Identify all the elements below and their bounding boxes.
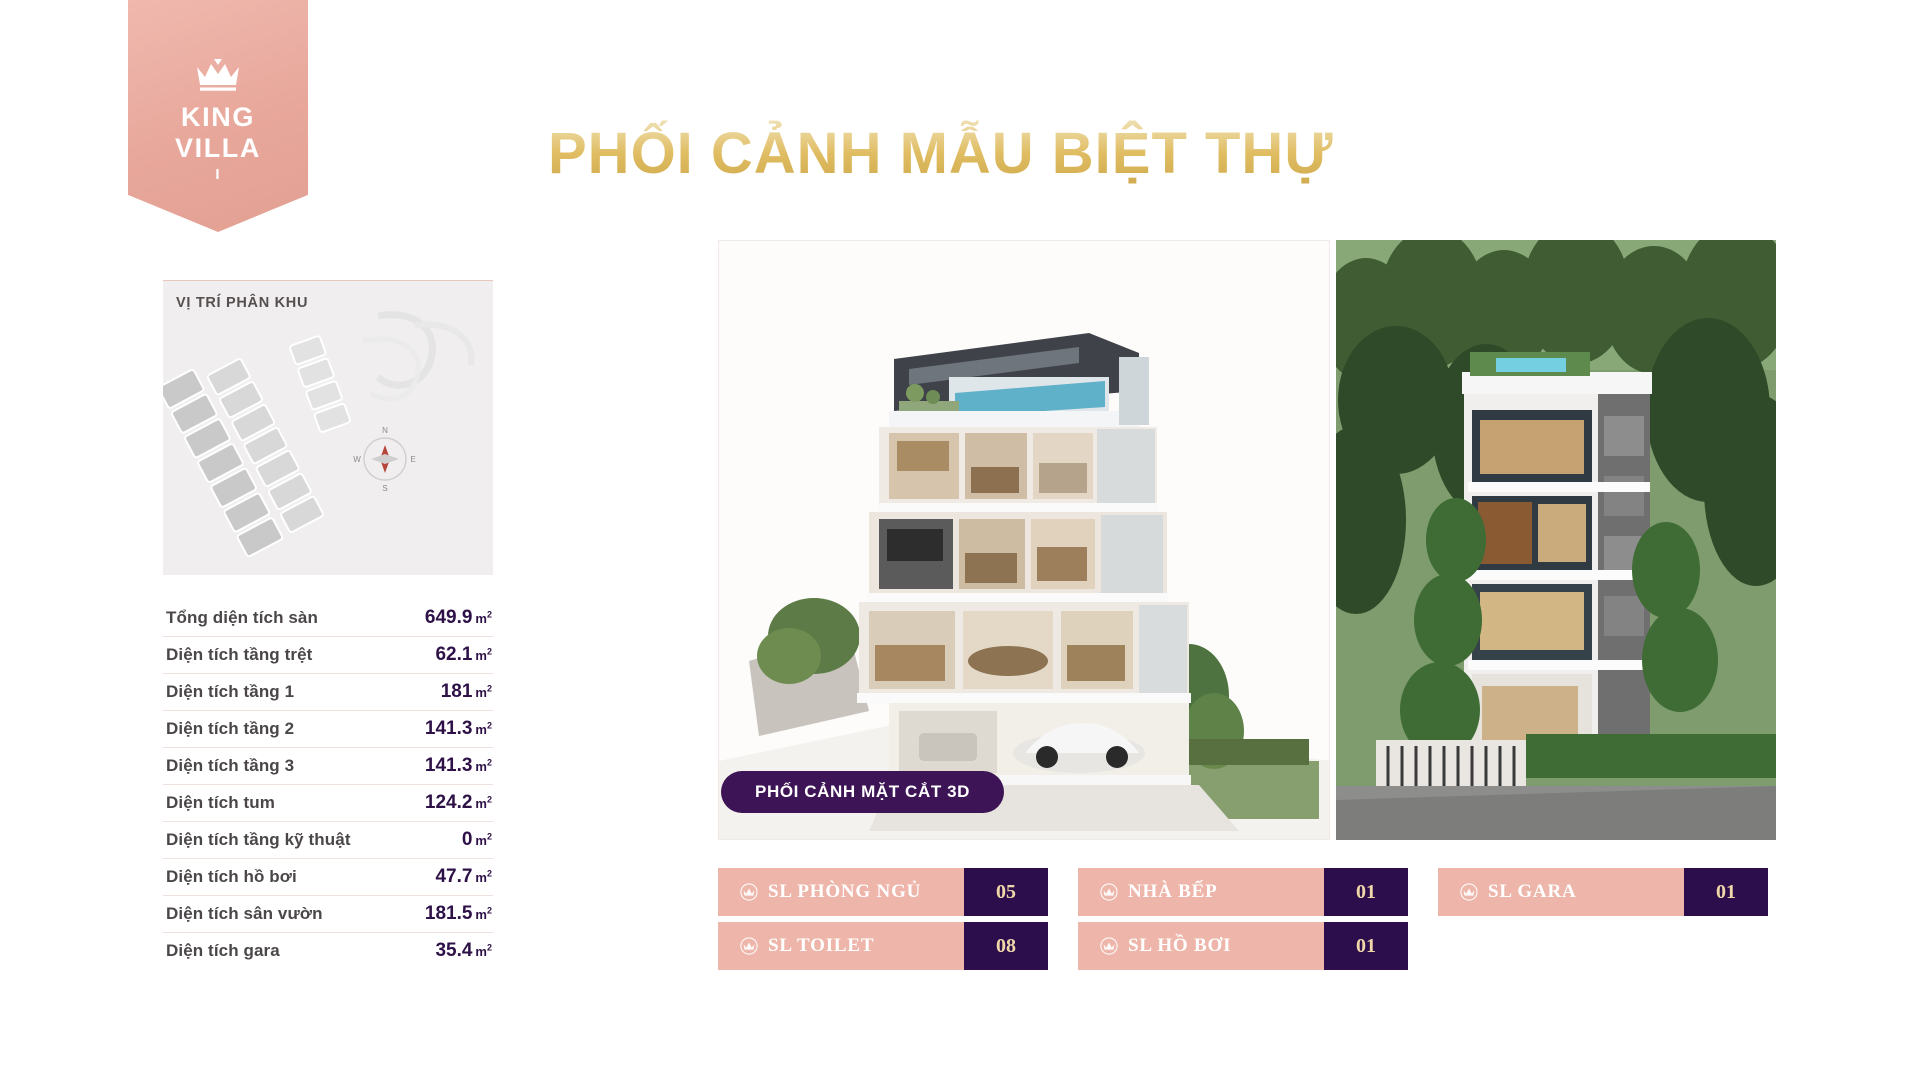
compass-rose: N E S W: [353, 426, 415, 493]
badge-label: SL GARA: [1488, 881, 1576, 903]
zone-map-graphic: N E S W: [163, 281, 493, 575]
spec-value: 181m2: [441, 681, 492, 703]
spec-unit: m2: [475, 833, 492, 848]
spec-value: 181.5m2: [425, 903, 492, 925]
table-row: Diện tích sân vườn 181.5m2: [163, 896, 493, 933]
crown-badge-icon: [1100, 883, 1118, 901]
badge-label-wrap: NHÀ BẾP: [1078, 868, 1324, 916]
brand-logo-line2: VILLA: [175, 133, 261, 164]
villa-3d-section-render[interactable]: PHỐI CẢNH MẶT CẮT 3D: [718, 240, 1330, 840]
spec-value: 62.1m2: [435, 644, 492, 666]
page-title: PHỐI CẢNH MẪU BIỆT THỰ: [548, 120, 1333, 187]
badge-label: SL PHÒNG NGỦ: [768, 881, 921, 903]
badge-label: SL HỒ BƠI: [1128, 935, 1231, 957]
spec-label: Diện tích tum: [166, 793, 275, 813]
svg-text:N: N: [382, 426, 388, 435]
badge-label: SL TOILET: [768, 935, 874, 957]
crown-badge-icon: [740, 883, 758, 901]
badge-label-wrap: SL HỒ BƠI: [1078, 922, 1324, 970]
brand-logo-line1: KING: [175, 102, 261, 133]
crown-icon: [195, 58, 241, 92]
spec-unit: m2: [475, 685, 492, 700]
svg-text:E: E: [410, 455, 415, 464]
table-row: Diện tích tầng 3 141.3m2: [163, 748, 493, 785]
spec-unit: m2: [475, 944, 492, 959]
spec-label: Diện tích sân vườn: [166, 904, 323, 924]
table-row: Diện tích tầng kỹ thuật 0m2: [163, 822, 493, 859]
table-row: Tổng diện tích sàn 649.9m2: [163, 600, 493, 637]
badge-value: 01: [1324, 868, 1408, 916]
badge-value: 08: [964, 922, 1048, 970]
zone-location-map[interactable]: VỊ TRÍ PHÂN KHU: [163, 280, 493, 575]
spec-label: Diện tích gara: [166, 941, 280, 961]
villa-exterior-render[interactable]: [1336, 240, 1776, 840]
spec-unit: m2: [475, 611, 492, 626]
brand-logo-text: KING VILLA: [175, 102, 261, 164]
spec-value: 141.3m2: [425, 718, 492, 740]
table-row: Diện tích hồ bơi 47.7m2: [163, 859, 493, 896]
spec-unit: m2: [475, 796, 492, 811]
badge-label: NHÀ BẾP: [1128, 881, 1218, 903]
spec-unit: m2: [475, 759, 492, 774]
badge-label-wrap: SL GARA: [1438, 868, 1684, 916]
spec-value: 35.4m2: [435, 940, 492, 962]
slide-page: KING VILLA I PHỐI CẢNH MẪU BIỆT THỰ VỊ T…: [0, 0, 1920, 1080]
badge-toilets[interactable]: SL TOILET 08: [718, 922, 1048, 970]
table-row: Diện tích gara 35.4m2: [163, 933, 493, 969]
spec-label: Diện tích tầng kỹ thuật: [166, 830, 351, 850]
brand-logo-sub: I: [215, 166, 220, 183]
spec-unit: m2: [475, 722, 492, 737]
spec-label: Diện tích tầng 2: [166, 719, 294, 739]
specs-table: Tổng diện tích sàn 649.9m2 Diện tích tần…: [163, 600, 493, 969]
svg-text:W: W: [353, 455, 361, 464]
spec-label: Diện tích hồ bơi: [166, 867, 297, 887]
table-row: Diện tích tum 124.2m2: [163, 785, 493, 822]
badge-bedrooms[interactable]: SL PHÒNG NGỦ 05: [718, 868, 1048, 916]
crown-badge-icon: [1460, 883, 1478, 901]
spec-value: 0m2: [462, 829, 492, 851]
spec-label: Diện tích tầng 3: [166, 756, 294, 776]
spec-value: 47.7m2: [435, 866, 492, 888]
badge-value: 05: [964, 868, 1048, 916]
crown-badge-icon: [740, 937, 758, 955]
svg-text:S: S: [382, 484, 387, 493]
table-row: Diện tích tầng 2 141.3m2: [163, 711, 493, 748]
render-caption: PHỐI CẢNH MẶT CẮT 3D: [721, 771, 1004, 813]
spec-value: 124.2m2: [425, 792, 492, 814]
spec-unit: m2: [475, 907, 492, 922]
spec-value: 141.3m2: [425, 755, 492, 777]
badge-value: 01: [1324, 922, 1408, 970]
villa-section-graphic: [719, 241, 1330, 840]
badge-value: 01: [1684, 868, 1768, 916]
spec-unit: m2: [475, 648, 492, 663]
table-row: Diện tích tầng 1 181m2: [163, 674, 493, 711]
badge-label-wrap: SL TOILET: [718, 922, 964, 970]
crown-badge-icon: [1100, 937, 1118, 955]
left-column: VỊ TRÍ PHÂN KHU: [163, 280, 493, 969]
spec-label: Diện tích tầng trệt: [166, 645, 312, 665]
badge-pool[interactable]: SL HỒ BƠI 01: [1078, 922, 1408, 970]
feature-badge-grid: SL PHÒNG NGỦ 05 NHÀ BẾP 01 SL GARA: [718, 868, 1768, 970]
villa-exterior-graphic: [1336, 240, 1776, 840]
spec-label: Tổng diện tích sàn: [166, 608, 318, 628]
spec-label: Diện tích tầng 1: [166, 682, 294, 702]
badge-garage[interactable]: SL GARA 01: [1438, 868, 1768, 916]
spec-value: 649.9m2: [425, 607, 492, 629]
badge-label-wrap: SL PHÒNG NGỦ: [718, 868, 964, 916]
badge-kitchen[interactable]: NHÀ BẾP 01: [1078, 868, 1408, 916]
table-row: Diện tích tầng trệt 62.1m2: [163, 637, 493, 674]
brand-logo-ribbon: KING VILLA I: [128, 0, 308, 232]
spec-unit: m2: [475, 870, 492, 885]
